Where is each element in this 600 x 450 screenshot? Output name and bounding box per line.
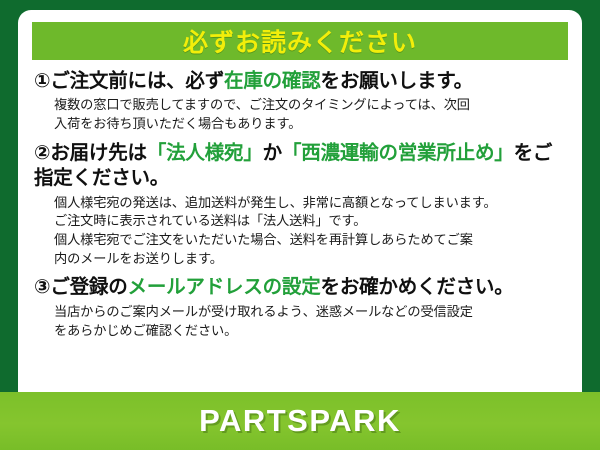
- item-1-note-line: 入荷をお待ち頂いただく場合もあります。: [54, 115, 566, 134]
- item-2-note-line: 内のメールをお送りします。: [54, 250, 566, 269]
- item-1-note-line: 複数の窓口で販売してますので、ご注文のタイミングによっては、次回: [54, 96, 566, 115]
- item-2-heading-accent: 「法人様宛」: [147, 142, 263, 164]
- item-1-note: 複数の窓口で販売してますので、ご注文のタイミングによっては、次回 入荷をお待ち頂…: [34, 96, 566, 133]
- item-2-heading-accent-2: 「西濃運輸の営業所止め」: [282, 142, 514, 164]
- title-banner: 必ずお読みください: [32, 22, 568, 60]
- item-3-note-line: をあらかじめご確認ください。: [54, 322, 566, 341]
- item-3-heading-before: ご登録の: [50, 276, 127, 298]
- notice-item-3: ③ご登録のメールアドレスの設定をお確かめください。 当店からのご案内メールが受け…: [34, 275, 566, 340]
- item-2-note-line: 個人様宅宛でご注文をいただいた場合、送料を再計算しあらためてご案: [54, 231, 566, 250]
- notice-card: 必ずお読みください ①ご注文前には、必ず在庫の確認をお願いします。 複数の窓口で…: [0, 0, 600, 450]
- item-2-heading-middle: か: [263, 142, 282, 164]
- notice-panel: 必ずお読みください ①ご注文前には、必ず在庫の確認をお願いします。 複数の窓口で…: [18, 10, 582, 396]
- notice-item-2: ②お届け先は「法人様宛」か「西濃運輸の営業所止め」をご指定ください。 個人様宅宛…: [34, 141, 566, 269]
- item-3-note: 当店からのご案内メールが受け取れるよう、迷惑メールなどの受信設定 をあらかじめご…: [34, 303, 566, 340]
- item-1-heading-after: をお願いします。: [321, 70, 473, 92]
- item-1-heading-accent: 在庫の確認: [224, 70, 321, 92]
- item-1-heading: ①ご注文前には、必ず在庫の確認をお願いします。: [34, 69, 566, 94]
- item-3-heading-after: をお確かめください。: [321, 276, 514, 298]
- notice-title: 必ずお読みください: [183, 23, 417, 59]
- item-3-note-line: 当店からのご案内メールが受け取れるよう、迷惑メールなどの受信設定: [54, 303, 566, 322]
- item-3-number: ③: [34, 276, 50, 298]
- notice-item-1: ①ご注文前には、必ず在庫の確認をお願いします。 複数の窓口で販売してますので、ご…: [34, 69, 566, 134]
- item-2-note-line: 個人様宅宛の発送は、追加送料が発生し、非常に高額となってしまいます。: [54, 194, 566, 213]
- brand-name: PARTSPARK: [199, 403, 401, 439]
- item-1-heading-before: ご注文前には、必ず: [50, 70, 224, 92]
- item-2-heading-before: お届け先は: [50, 142, 147, 164]
- item-2-note: 個人様宅宛の発送は、追加送料が発生し、非常に高額となってしまいます。 ご注文時に…: [34, 194, 566, 269]
- item-3-heading-accent: メールアドレスの設定: [128, 276, 321, 298]
- item-3-heading: ③ご登録のメールアドレスの設定をお確かめください。: [34, 275, 566, 300]
- item-2-note-line: ご注文時に表示されている送料は「法人送料」です。: [54, 212, 566, 231]
- brand-footer: PARTSPARK: [0, 392, 600, 450]
- item-2-number: ②: [34, 142, 50, 164]
- notice-list: ①ご注文前には、必ず在庫の確認をお願いします。 複数の窓口で販売してますので、ご…: [32, 60, 568, 340]
- item-2-heading: ②お届け先は「法人様宛」か「西濃運輸の営業所止め」をご指定ください。: [34, 141, 566, 192]
- item-1-number: ①: [34, 70, 50, 92]
